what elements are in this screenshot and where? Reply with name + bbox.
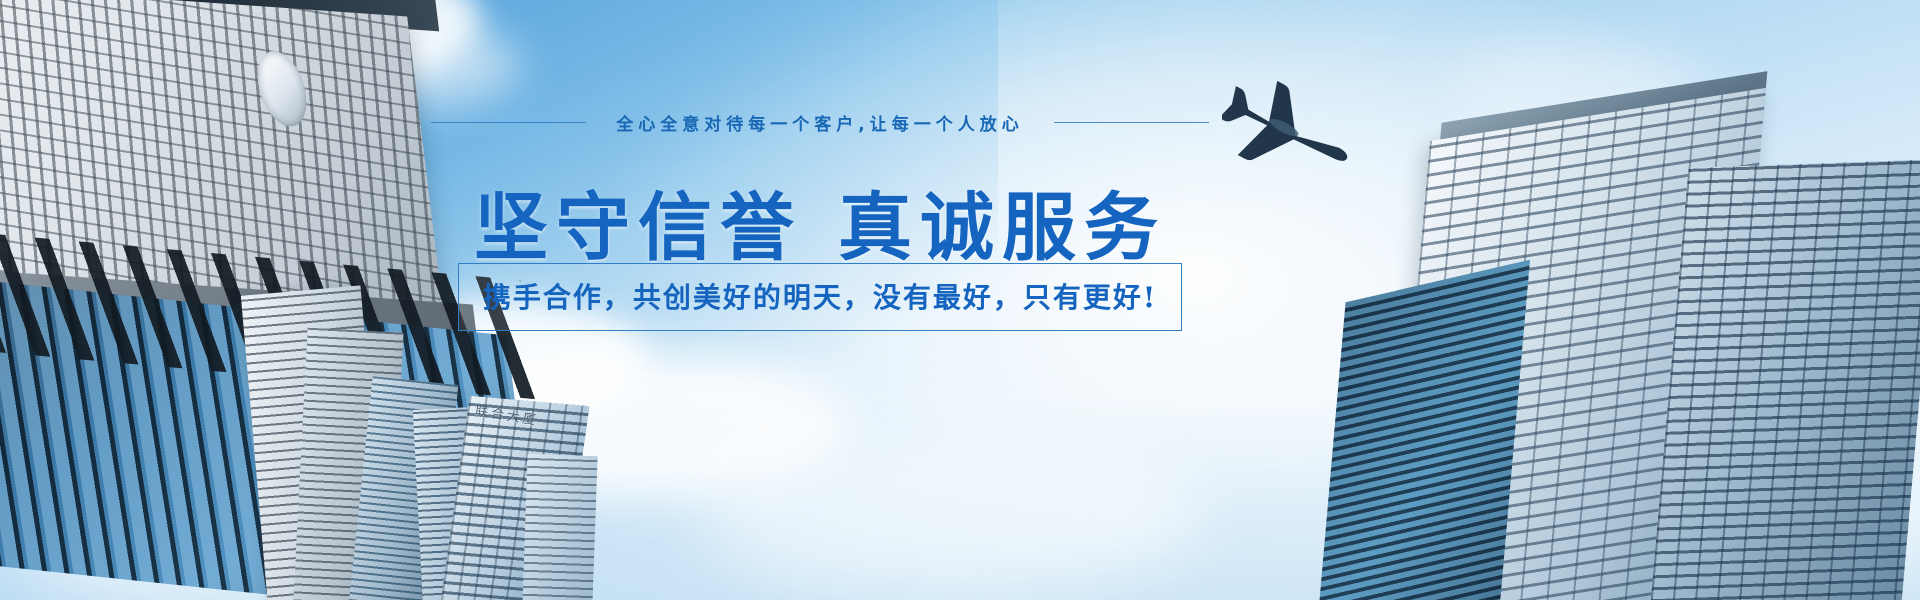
headline: 坚守信誉真诚服务	[0, 168, 1640, 275]
decorative-line-left	[431, 122, 586, 123]
banner-content: 全心全意对待每一个客户,让每一个人放心 坚守信誉真诚服务 携手合作，共创美好的明…	[0, 0, 1920, 600]
subtitle-wrap: 携手合作，共创美好的明天，没有最好，只有更好!	[0, 263, 1640, 331]
headline-part-left: 坚守信誉	[474, 185, 802, 271]
subtitle-boxed-text: 携手合作，共创美好的明天，没有最好，只有更好!	[458, 263, 1182, 331]
decorative-line-right	[1054, 122, 1209, 123]
tagline-row: 全心全意对待每一个客户,让每一个人放心	[0, 110, 1640, 135]
tagline-text: 全心全意对待每一个客户,让每一个人放心	[616, 110, 1023, 135]
headline-part-right: 真诚服务	[838, 185, 1166, 271]
hero-banner: 联合大厦 全心全意对待每一个客户,让每一个人放心 坚守信誉真诚服务 携手合作，共…	[0, 0, 1920, 600]
